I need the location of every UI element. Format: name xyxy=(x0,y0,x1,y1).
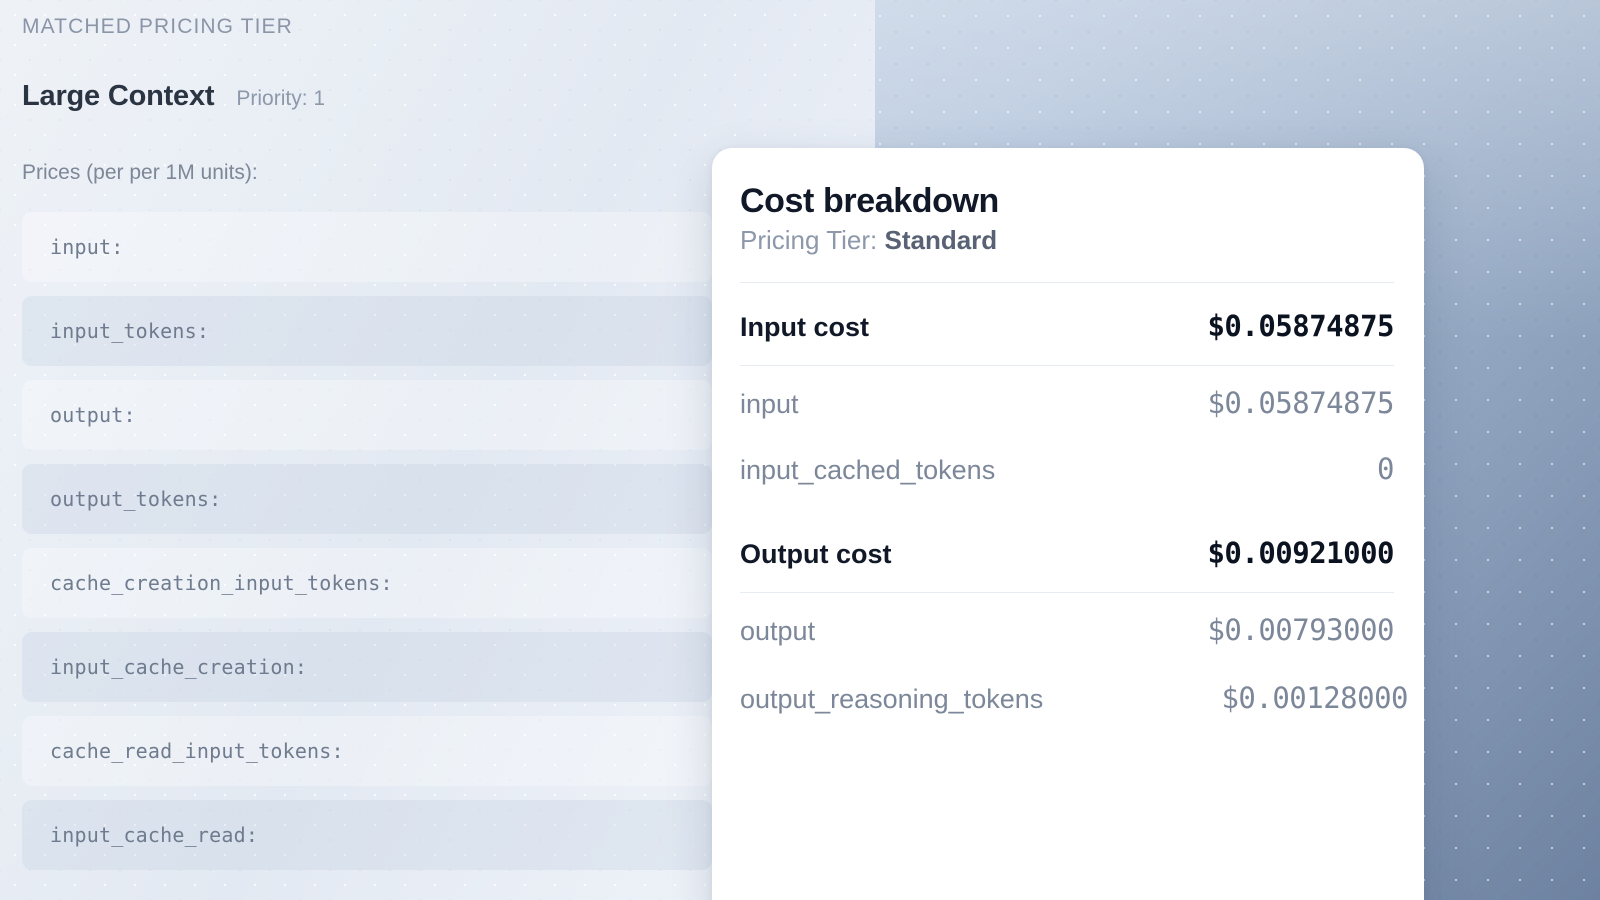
input-cached-tokens-label: input_cached_tokens xyxy=(740,455,995,486)
input-cost-section: Input cost $0.05874875 input $0.05874875… xyxy=(740,283,1394,498)
output-reasoning-tokens-value: $0.00128000 xyxy=(1221,681,1408,715)
table-row: input $0.05874875 xyxy=(740,366,1394,432)
list-item[interactable]: input: xyxy=(22,212,712,282)
output-reasoning-tokens-label: output_reasoning_tokens xyxy=(740,684,1043,715)
tier-name: Large Context xyxy=(22,80,214,113)
output-row-value: $0.00793000 xyxy=(1207,613,1394,647)
table-row: input_cached_tokens 0 xyxy=(740,432,1394,498)
output-cost-section: Output cost $0.00921000 output $0.007930… xyxy=(740,510,1394,727)
input-cost-total-row: Input cost $0.05874875 xyxy=(740,283,1394,365)
output-cost-total-row: Output cost $0.00921000 xyxy=(740,510,1394,592)
input-cost-total-label: Input cost xyxy=(740,312,869,343)
matched-pricing-tier-label: MATCHED PRICING TIER xyxy=(22,15,293,39)
tier-heading-row: Large Context Priority: 1 xyxy=(22,80,325,113)
price-key-label: input_cache_read: xyxy=(50,823,258,847)
output-row-label: output xyxy=(740,616,815,647)
output-cost-total-label: Output cost xyxy=(740,539,891,570)
price-key-label: input_cache_creation: xyxy=(50,655,307,679)
pricing-tier-subtitle-value: Standard xyxy=(885,225,998,255)
price-key-label: output_tokens: xyxy=(50,487,221,511)
screen-root: MATCHED PRICING TIER Large Context Prior… xyxy=(0,0,1600,900)
list-item[interactable]: output: xyxy=(22,380,712,450)
prices-caption: Prices (per per 1M units): xyxy=(22,161,258,185)
input-cost-total-value: $0.05874875 xyxy=(1207,309,1394,343)
table-row: output $0.00793000 xyxy=(740,593,1394,659)
cost-breakdown-card: Cost breakdown Pricing Tier: Standard In… xyxy=(712,148,1424,900)
input-row-label: input xyxy=(740,389,799,420)
tier-priority: Priority: 1 xyxy=(236,87,325,111)
price-key-list: input: input_tokens: output: output_toke… xyxy=(22,212,712,884)
page-title: Cost breakdown xyxy=(740,182,1394,221)
pricing-tier-subtitle: Pricing Tier: Standard xyxy=(740,225,1394,256)
input-row-value: $0.05874875 xyxy=(1207,386,1394,420)
list-item[interactable]: input_tokens: xyxy=(22,296,712,366)
price-key-label: input_tokens: xyxy=(50,319,209,343)
price-key-label: input: xyxy=(50,235,123,259)
section-spacer xyxy=(740,498,1394,510)
price-key-label: cache_read_input_tokens: xyxy=(50,739,344,763)
list-item[interactable]: input_cache_creation: xyxy=(22,632,712,702)
pricing-tier-subtitle-label: Pricing Tier: xyxy=(740,225,877,255)
list-item[interactable]: cache_creation_input_tokens: xyxy=(22,548,712,618)
table-row: output_reasoning_tokens $0.00128000 xyxy=(740,659,1394,727)
price-key-label: output: xyxy=(50,403,136,427)
list-item[interactable]: cache_read_input_tokens: xyxy=(22,716,712,786)
input-cached-tokens-value: 0 xyxy=(1377,452,1394,486)
list-item[interactable]: output_tokens: xyxy=(22,464,712,534)
output-cost-total-value: $0.00921000 xyxy=(1207,536,1394,570)
price-key-label: cache_creation_input_tokens: xyxy=(50,571,393,595)
list-item[interactable]: input_cache_read: xyxy=(22,800,712,870)
